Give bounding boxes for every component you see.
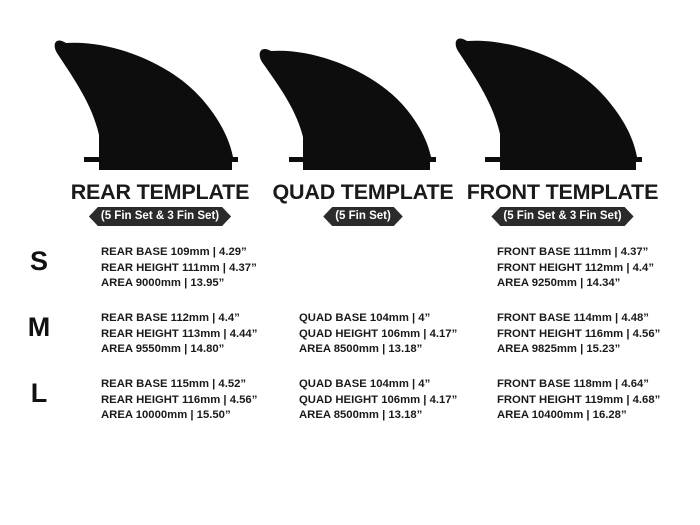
spec-line-height: QUAD HEIGHT 106mm | 4.17” [299, 327, 489, 343]
spec-line-base: QUAD BASE 104mm | 4” [299, 377, 489, 393]
spec-cell-m-quad: QUAD BASE 104mm | 4” QUAD HEIGHT 106mm |… [299, 311, 489, 358]
table-row: M REAR BASE 112mm | 4.4” REAR HEIGHT 113… [0, 302, 700, 368]
spec-line-base: REAR BASE 115mm | 4.52” [101, 377, 291, 393]
spec-line-area: AREA 10400mm | 16.28” [497, 408, 692, 424]
fin-spec-table: S REAR BASE 109mm | 4.29” REAR HEIGHT 11… [0, 236, 700, 434]
rear-template-title: REAR TEMPLATE [55, 180, 265, 204]
quad-template-title: QUAD TEMPLATE [258, 180, 468, 204]
spec-line-height: REAR HEIGHT 111mm | 4.37” [101, 261, 291, 277]
spec-cell-l-rear: REAR BASE 115mm | 4.52” REAR HEIGHT 116m… [101, 377, 291, 424]
spec-line-base: FRONT BASE 118mm | 4.64” [497, 377, 692, 393]
spec-cell-l-front: FRONT BASE 118mm | 4.64” FRONT HEIGHT 11… [497, 377, 692, 424]
size-label-l: L [16, 378, 62, 408]
front-fin-silhouette-icon [452, 14, 667, 174]
size-label-s: S [16, 246, 62, 276]
spec-line-area: AREA 8500mm | 13.18” [299, 408, 489, 424]
heading-front-template: FRONT TEMPLATE (5 Fin Set & 3 Fin Set) [455, 180, 670, 226]
spec-cell-s-rear: REAR BASE 109mm | 4.29” REAR HEIGHT 111m… [101, 245, 291, 292]
spec-cell-s-front: FRONT BASE 111mm | 4.37” FRONT HEIGHT 11… [497, 245, 692, 292]
rear-set-badge: (5 Fin Set & 3 Fin Set) [89, 207, 231, 226]
front-set-badge: (5 Fin Set & 3 Fin Set) [491, 207, 633, 226]
heading-quad-template: QUAD TEMPLATE (5 Fin Set) [258, 180, 468, 226]
spec-cell-l-quad: QUAD BASE 104mm | 4” QUAD HEIGHT 106mm |… [299, 377, 489, 424]
template-headings: REAR TEMPLATE (5 Fin Set & 3 Fin Set) QU… [0, 180, 700, 232]
spec-line-area: AREA 8500mm | 13.18” [299, 342, 489, 358]
spec-line-area: AREA 9825mm | 15.23” [497, 342, 692, 358]
front-template-title: FRONT TEMPLATE [455, 180, 670, 204]
spec-line-area: AREA 10000mm | 15.50” [101, 408, 291, 424]
table-row: L REAR BASE 115mm | 4.52” REAR HEIGHT 11… [0, 368, 700, 434]
size-label-m: M [16, 312, 62, 342]
spec-line-area: AREA 9550mm | 14.80” [101, 342, 291, 358]
spec-line-area: AREA 9250mm | 14.34” [497, 276, 692, 292]
quad-fin-illustration [255, 14, 470, 174]
spec-line-height: FRONT HEIGHT 119mm | 4.68” [497, 393, 692, 409]
spec-line-height: REAR HEIGHT 116mm | 4.56” [101, 393, 291, 409]
fin-illustrations [0, 0, 700, 180]
spec-line-height: FRONT HEIGHT 116mm | 4.56” [497, 327, 692, 343]
spec-line-base: QUAD BASE 104mm | 4” [299, 311, 489, 327]
spec-line-base: REAR BASE 109mm | 4.29” [101, 245, 291, 261]
spec-line-base: FRONT BASE 111mm | 4.37” [497, 245, 692, 261]
table-row: S REAR BASE 109mm | 4.29” REAR HEIGHT 11… [0, 236, 700, 302]
spec-line-height: FRONT HEIGHT 112mm | 4.4” [497, 261, 692, 277]
heading-rear-template: REAR TEMPLATE (5 Fin Set & 3 Fin Set) [55, 180, 265, 226]
front-fin-illustration [452, 14, 667, 174]
quad-banner-wrap: (5 Fin Set) [258, 207, 468, 226]
spec-line-height: QUAD HEIGHT 106mm | 4.17” [299, 393, 489, 409]
quad-fin-silhouette-icon [255, 14, 470, 174]
spec-cell-m-front: FRONT BASE 114mm | 4.48” FRONT HEIGHT 11… [497, 311, 692, 358]
rear-banner-wrap: (5 Fin Set & 3 Fin Set) [55, 207, 265, 226]
spec-line-base: FRONT BASE 114mm | 4.48” [497, 311, 692, 327]
quad-set-badge: (5 Fin Set) [323, 207, 403, 226]
rear-fin-illustration [52, 14, 267, 174]
front-banner-wrap: (5 Fin Set & 3 Fin Set) [455, 207, 670, 226]
spec-cell-m-rear: REAR BASE 112mm | 4.4” REAR HEIGHT 113mm… [101, 311, 291, 358]
rear-fin-silhouette-icon [52, 14, 267, 174]
spec-line-height: REAR HEIGHT 113mm | 4.44” [101, 327, 291, 343]
spec-line-area: AREA 9000mm | 13.95” [101, 276, 291, 292]
spec-line-base: REAR BASE 112mm | 4.4” [101, 311, 291, 327]
